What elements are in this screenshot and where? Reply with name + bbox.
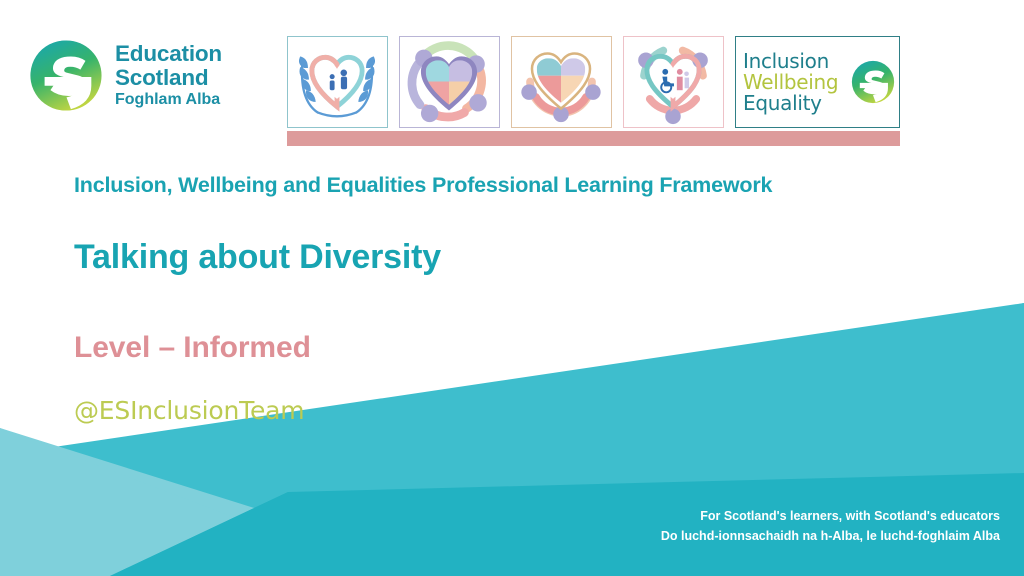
slide-canvas: Education Scotland Foghlam Alba xyxy=(0,0,1024,576)
footer-strapline: For Scotland's learners, with Scotland's… xyxy=(661,507,1000,546)
strapline-english: For Scotland's learners, with Scotland's… xyxy=(661,507,1000,526)
framework-subtitle: Inclusion, Wellbeing and Equalities Prof… xyxy=(74,173,772,198)
social-handle: @ESInclusionTeam xyxy=(74,396,304,425)
level-label: Level – Informed xyxy=(74,331,311,365)
slide-content: Inclusion, Wellbeing and Equalities Prof… xyxy=(0,0,1024,576)
page-title: Talking about Diversity xyxy=(74,238,441,277)
strapline-gaelic: Do luchd-ionnsachaidh na h-Alba, le luch… xyxy=(661,527,1000,546)
